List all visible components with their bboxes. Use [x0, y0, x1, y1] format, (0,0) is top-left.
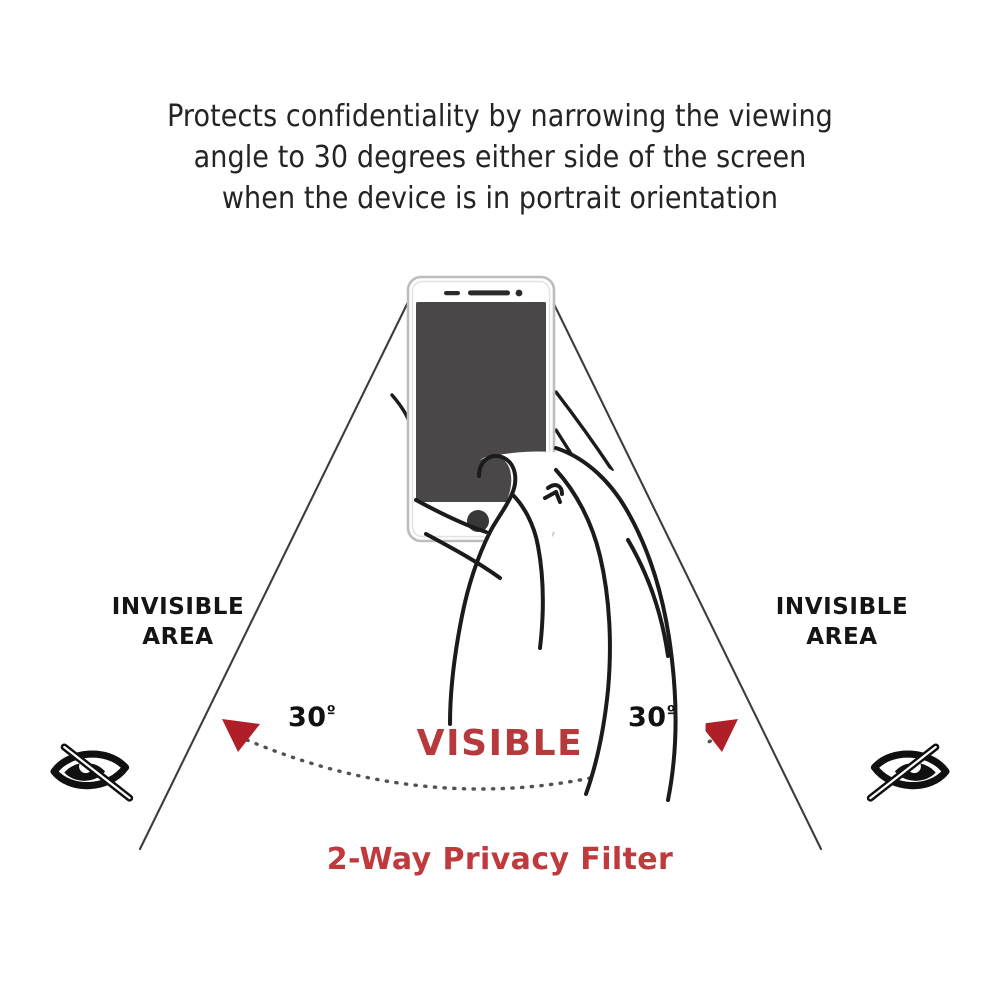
visible-area-label: VISIBLE — [0, 723, 1000, 764]
page-title: Protects confidentiality by narrowing th… — [0, 96, 1000, 219]
earpiece-speaker — [468, 290, 510, 295]
front-camera — [516, 290, 523, 297]
invisible-area-left-line2: AREA — [63, 622, 293, 652]
invisible-area-right-line2: AREA — [727, 622, 957, 652]
invisible-area-label-right: INVISIBLE AREA — [727, 592, 957, 652]
angle-right-unit: º — [667, 702, 677, 721]
heading-line-1: Protects confidentiality by narrowing th… — [0, 96, 1000, 137]
earpiece-secondary — [444, 291, 460, 295]
heading-line-3: when the device is in portrait orientati… — [0, 178, 1000, 219]
cone-edge-left — [140, 298, 410, 849]
invisible-area-right-line1: INVISIBLE — [776, 594, 909, 620]
diagram-canvas: Protects confidentiality by narrowing th… — [0, 0, 1000, 1000]
heading-line-2: angle to 30 degrees either side of the s… — [0, 137, 1000, 178]
angle-left-unit: º — [327, 702, 337, 721]
invisible-area-label-left: INVISIBLE AREA — [63, 592, 293, 652]
product-caption: 2-Way Privacy Filter — [0, 842, 1000, 877]
invisible-area-left-line1: INVISIBLE — [112, 594, 245, 620]
